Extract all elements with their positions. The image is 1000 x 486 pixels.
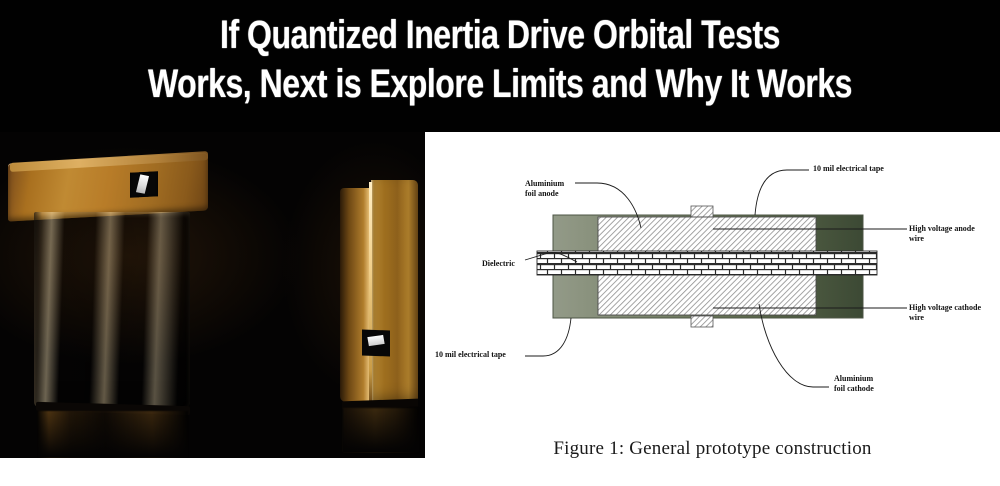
headline-line-2: Works, Next is Explore Limits and Why It… [100,62,900,106]
label-tape-top: 10 mil electrical tape [813,164,884,174]
rear-unit-reflection-fade [343,408,419,452]
label-high-voltage-anode-wire: High voltage anode wire [909,224,975,243]
headline-banner: If Quantized Inertia Drive Orbital Tests… [0,0,1000,132]
rear-unit-left-face [340,188,370,402]
label-aluminium-foil-anode: Aluminium foil anode [525,179,564,198]
leader-tape-bottom [525,318,571,356]
cathode-tab [691,316,713,327]
label-tape-bottom: 10 mil electrical tape [435,350,506,360]
label-aluminium-foil-cathode: Aluminium foil cathode [834,374,874,393]
dielectric-strip [537,251,877,275]
prototype-construction-diagram [425,132,1000,442]
prototype-photo [0,132,425,458]
headline-line-1: If Quantized Inertia Drive Orbital Tests [100,13,900,57]
figure-caption: Figure 1: General prototype construction [425,438,1000,460]
front-unit-body [34,212,190,409]
label-dielectric: Dielectric [482,259,515,269]
rear-unit-window [362,330,390,357]
rear-unit-right-face [371,180,418,406]
leader-tape-top [755,170,809,215]
rear-unit-edge-highlight [369,182,372,404]
anode-tab [691,206,713,217]
front-unit-window [130,171,158,197]
label-high-voltage-cathode-wire: High voltage cathode wire [909,303,981,322]
figure-panel: 10 mil electrical tape High voltage anod… [425,132,1000,486]
front-unit-reflection-fade [38,411,188,457]
rear-unit [340,180,418,408]
